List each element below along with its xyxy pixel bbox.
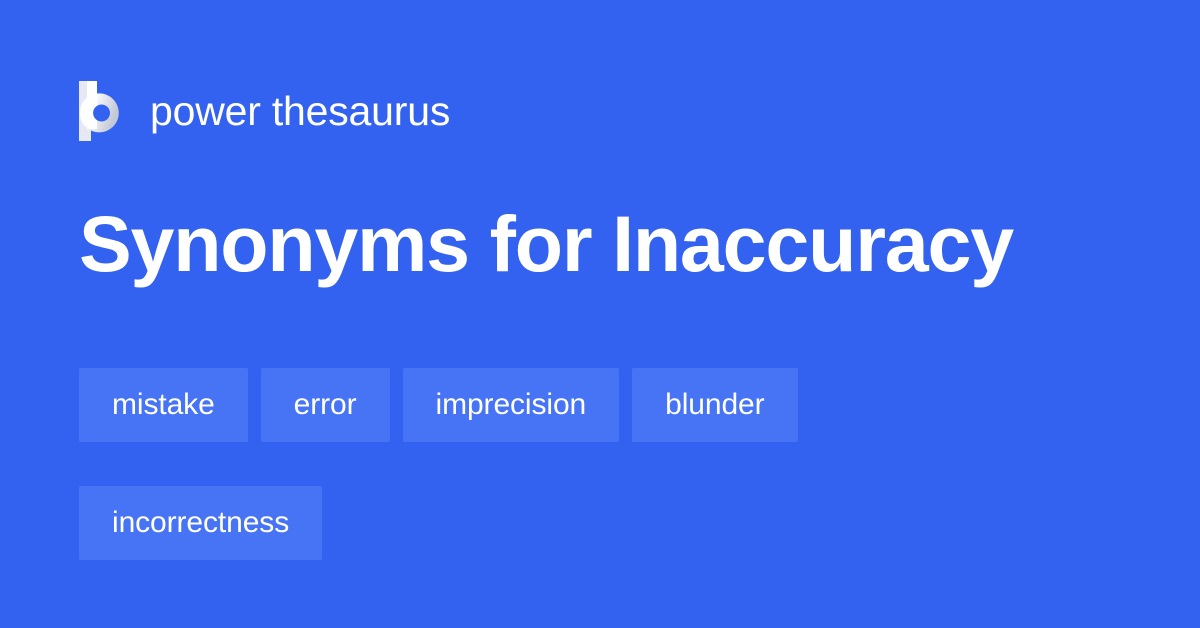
synonym-chip[interactable]: imprecision: [403, 368, 620, 442]
synonym-chip[interactable]: mistake: [79, 368, 248, 442]
brand-name: power thesaurus: [150, 91, 450, 132]
synonym-chip[interactable]: error: [261, 368, 390, 442]
synonyms-card: power thesaurus Synonyms for Inaccuracy …: [0, 0, 1200, 628]
brand-logo[interactable]: power thesaurus: [79, 80, 450, 142]
synonym-chip-list: mistake error imprecision blunder incorr…: [79, 368, 1119, 560]
synonym-chip[interactable]: incorrectness: [79, 486, 322, 560]
synonym-chip[interactable]: blunder: [632, 368, 797, 442]
page-title: Synonyms for Inaccuracy: [79, 196, 1013, 292]
power-thesaurus-b-logo-icon: [79, 81, 125, 141]
